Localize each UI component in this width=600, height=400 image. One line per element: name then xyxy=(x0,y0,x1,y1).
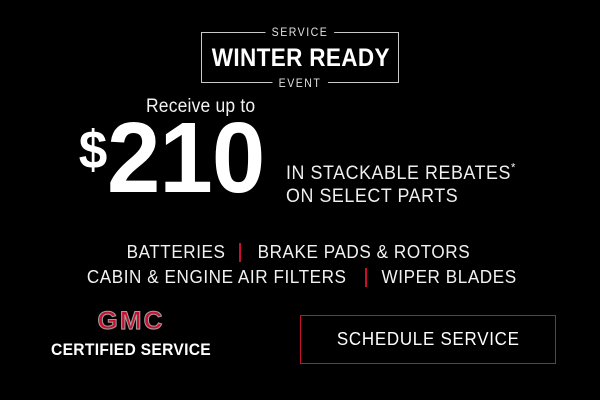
asterisk-marker: * xyxy=(511,161,516,175)
badge-kicker-top-label: SERVICE xyxy=(266,25,335,40)
parts-list: BATTERIES BRAKE PADS & ROTORS CABIN & EN… xyxy=(0,240,600,290)
certified-service-label: CERTIFIED SERVICE xyxy=(44,340,219,360)
schedule-service-label: SCHEDULE SERVICE xyxy=(337,329,520,350)
offer-amount-value: 210 xyxy=(107,114,264,202)
brand-lockup: GMC CERTIFIED SERVICE xyxy=(36,308,226,360)
parts-divider-icon xyxy=(365,268,367,287)
parts-divider-icon xyxy=(239,243,241,262)
winter-ready-ad-banner: SERVICE WINTER READY EVENT Receive up to… xyxy=(0,0,600,400)
parts-row-2: CABIN & ENGINE AIR FILTERS WIPER BLADES xyxy=(0,265,600,290)
event-badge: SERVICE WINTER READY EVENT xyxy=(201,32,399,83)
badge-title: WINTER READY xyxy=(212,45,388,71)
offer-amount: $ 210 xyxy=(78,114,271,202)
badge-kicker-bottom: EVENT xyxy=(269,76,332,91)
offer-detail-line-1: IN STACKABLE REBATES* xyxy=(286,162,516,185)
parts-row-1: BATTERIES BRAKE PADS & ROTORS xyxy=(0,240,600,265)
badge-kicker-bottom-label: EVENT xyxy=(272,76,327,91)
parts-item-wiper-blades: WIPER BLADES xyxy=(381,265,516,290)
parts-item-air-filters: CABIN & ENGINE AIR FILTERS xyxy=(87,265,347,290)
gmc-logo: GMC xyxy=(32,308,230,335)
offer-block: Receive up to $ 210 IN STACKABLE REBATES… xyxy=(0,96,600,216)
parts-item-batteries: BATTERIES xyxy=(127,240,226,265)
currency-symbol: $ xyxy=(79,123,107,177)
offer-detail: IN STACKABLE REBATES* ON SELECT PARTS xyxy=(286,162,516,208)
parts-item-brake-pads-rotors: BRAKE PADS & ROTORS xyxy=(258,240,471,265)
schedule-service-button[interactable]: SCHEDULE SERVICE xyxy=(300,315,556,364)
badge-kicker-top: SERVICE xyxy=(261,25,339,40)
offer-detail-line-2: ON SELECT PARTS xyxy=(286,185,516,208)
offer-detail-line-1-text: IN STACKABLE REBATES xyxy=(286,163,511,184)
